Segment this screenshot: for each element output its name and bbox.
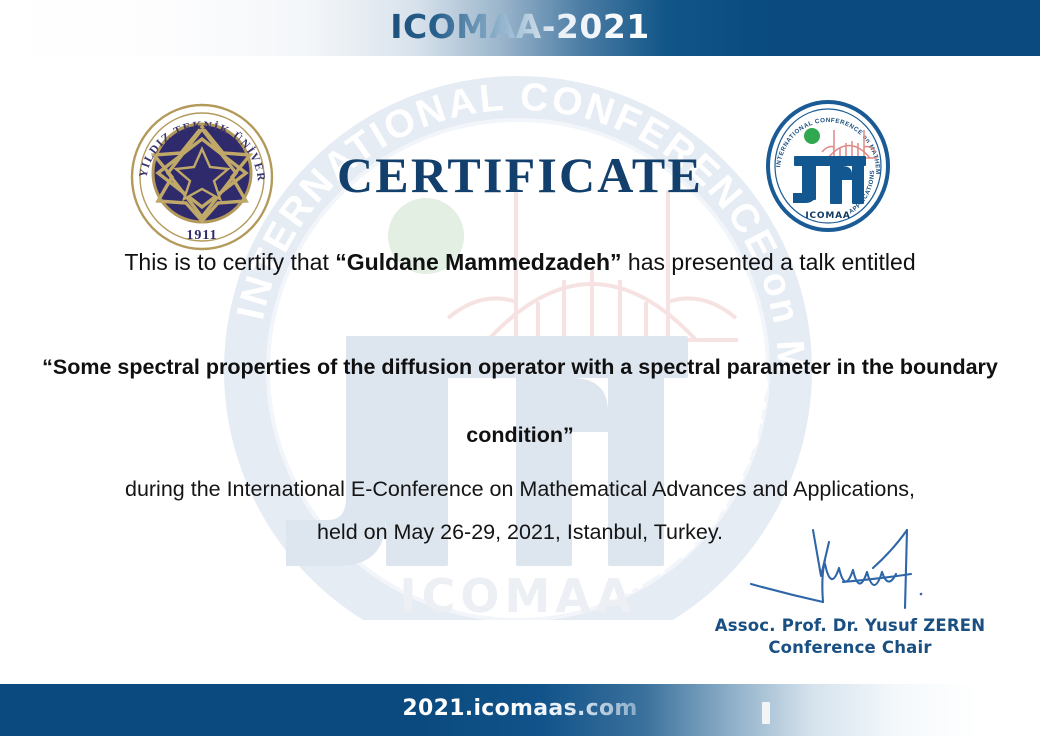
header-title: ICOMAA-2021 (0, 0, 1040, 56)
event-line: during the International E-Conference on… (60, 477, 980, 502)
certify-suffix: has presented a talk entitled (622, 249, 916, 275)
footer-website: 2021.icomaas.com (0, 684, 1040, 736)
recipient-name: “Guldane Mammedzadeh” (335, 249, 621, 275)
footer-bar: 2021.icomaas.com (0, 684, 1040, 736)
certify-line: This is to certify that “Guldane Mammedz… (60, 249, 980, 276)
talk-title: “Some spectral properties of the diffusi… (20, 333, 1020, 469)
certify-prefix: This is to certify that (124, 249, 335, 275)
signer-role: Conference Chair (700, 638, 1000, 657)
header-bar: ICOMAA-2021 (0, 0, 1040, 56)
certificate-page: INTERNATIONAL CONFERENCE on MATHEMATICAL… (0, 0, 1040, 736)
footer-artifact (762, 702, 770, 724)
handwritten-signature (725, 524, 975, 614)
page-title: CERTIFICATE (300, 146, 740, 204)
signer-name: Assoc. Prof. Dr. Yusuf ZEREN (700, 616, 1000, 635)
signature-block: Assoc. Prof. Dr. Yusuf ZEREN Conference … (700, 524, 1000, 657)
